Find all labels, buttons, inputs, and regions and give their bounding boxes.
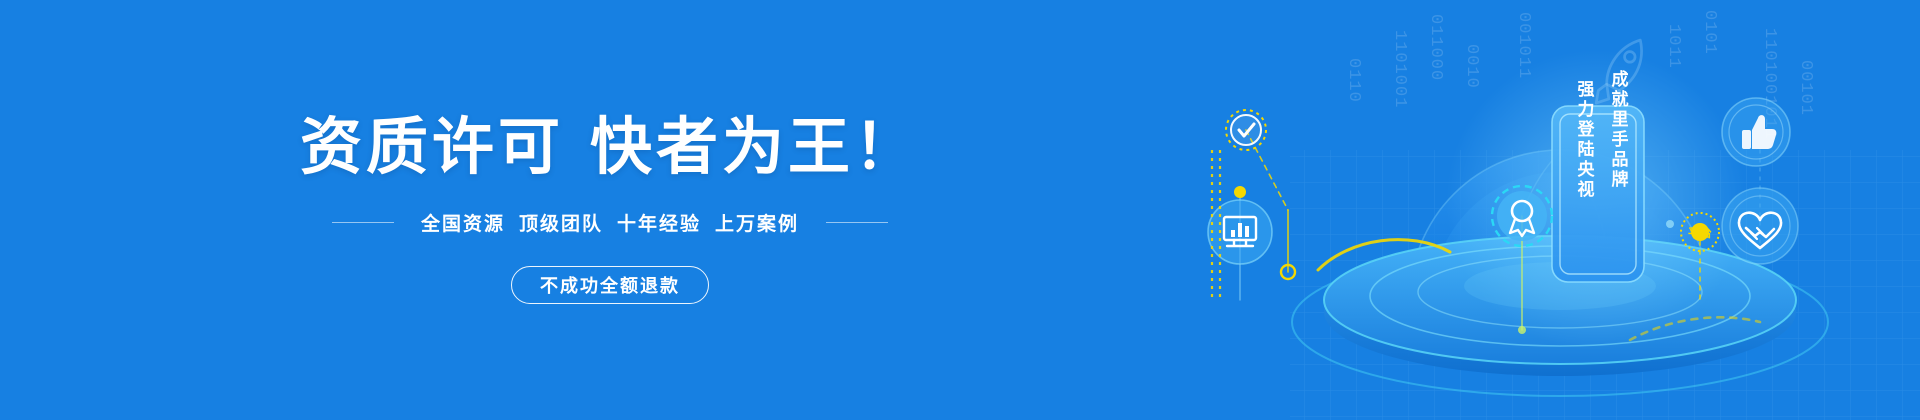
banner-subtitle: 全国资源顶级团队十年经验上万案例 <box>414 209 806 236</box>
banner-illustration: 1101001 011000 0010 001011 1011 0101 110… <box>1200 0 1920 420</box>
svg-text:0010: 0010 <box>1462 44 1481 89</box>
headline-part-1: 资质许可 <box>300 113 564 182</box>
svg-text:00101: 00101 <box>1796 60 1815 116</box>
banner-headline: 资质许可快者为王！ <box>300 117 920 179</box>
handshake-heart-icon <box>1722 188 1798 264</box>
subtitle-item-2: 十年经验 <box>617 214 701 235</box>
svg-text:0110: 0110 <box>1344 58 1363 103</box>
check-circle-icon <box>1226 110 1266 150</box>
device-text-right: 成就里手品牌 <box>1609 69 1629 190</box>
svg-text:0101: 0101 <box>1700 10 1719 55</box>
svg-text:011000: 011000 <box>1426 14 1445 81</box>
thumbs-up-icon <box>1722 98 1790 166</box>
refund-guarantee-button[interactable]: 不成功全额退款 <box>511 266 709 304</box>
subtitle-item-0: 全国资源 <box>421 214 505 235</box>
subtitle-rule-right <box>826 222 888 223</box>
subtitle-item-1: 顶级团队 <box>519 214 603 235</box>
platform-badge-label: 平台 <box>1688 225 1712 240</box>
subtitle-item-3: 上万案例 <box>715 214 799 235</box>
banner-copy-block: 资质许可快者为王！ 全国资源顶级团队十年经验上万案例 不成功全额退款 <box>0 0 1220 420</box>
subtitle-rule-left <box>332 222 394 223</box>
device-text-left: 强力登陆央视 <box>1575 80 1596 200</box>
svg-text:1011: 1011 <box>1664 24 1683 69</box>
promo-banner: 资质许可快者为王！ 全国资源顶级团队十年经验上万案例 不成功全额退款 <box>0 0 1920 420</box>
banner-subtitle-row: 全国资源顶级团队十年经验上万案例 <box>332 209 888 236</box>
svg-text:1101001: 1101001 <box>1390 30 1409 108</box>
headline-part-2: 快者为王！ <box>590 113 920 182</box>
